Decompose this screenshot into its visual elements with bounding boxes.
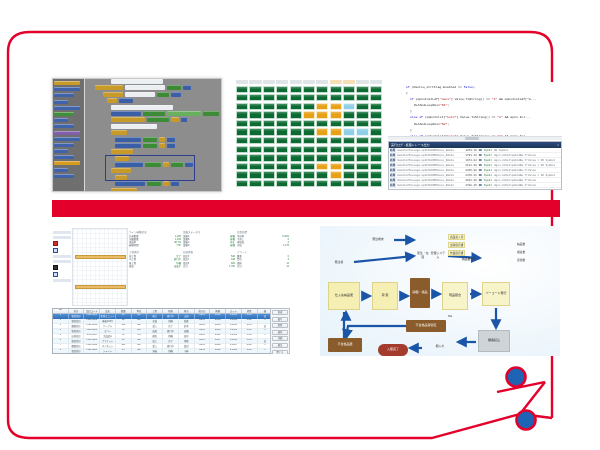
grid-cell-11-0[interactable] — [236, 180, 248, 187]
log-tag: 処理 — [390, 148, 395, 152]
grid-cell-4-4[interactable] — [290, 120, 302, 127]
n-scan[interactable]: 棚番読込 — [478, 330, 510, 352]
schedule-table[interactable]: No区分品目コード品名数量単位工程状態担当指示日納期ロット場所検備考 1製造指示… — [52, 308, 290, 354]
grid-cell-3-0[interactable] — [236, 111, 248, 118]
grid-column-header-8 — [343, 80, 355, 84]
palette-block-3[interactable] — [54, 100, 68, 104]
grid-cell-1-3[interactable] — [276, 94, 288, 101]
palette-block-12[interactable] — [54, 155, 74, 159]
grid-cell-2-1[interactable] — [249, 103, 261, 110]
grid-cell-4-1[interactable] — [249, 120, 261, 127]
grid-cell-7-1[interactable] — [249, 146, 261, 153]
code-text-area[interactable]: if (bGetsu_strtFlag.Enabled == false){if… — [388, 82, 562, 134]
grid-cell-1-2[interactable] — [263, 94, 275, 101]
grid-cell-4-2[interactable] — [263, 120, 275, 127]
grid-cell-5-1[interactable] — [249, 128, 261, 135]
n-office[interactable]: 受注・在庫管理システム — [416, 242, 446, 270]
grid-cell-7-3[interactable] — [276, 146, 288, 153]
grid-cell-0-0[interactable] — [236, 86, 248, 93]
log-tag: 処理 — [390, 173, 395, 177]
log-window-title: 実行ログ ‑ 処理トレース出力 — [391, 143, 430, 147]
block-5-1[interactable] — [143, 111, 165, 116]
block-row-4 — [89, 105, 221, 110]
grid-cell-9-8[interactable] — [343, 163, 355, 170]
block-9-0[interactable] — [115, 137, 141, 142]
block-row-17 — [89, 188, 221, 192]
grid-column-header-4 — [290, 80, 302, 84]
grid-cell-9-9[interactable] — [356, 163, 368, 170]
grid-column-header-2 — [263, 80, 275, 84]
grid-cell-0-6[interactable] — [316, 86, 328, 93]
grid-column-header-1 — [249, 80, 261, 84]
block-1-0[interactable] — [95, 85, 123, 90]
grid-cell-3-4[interactable] — [290, 111, 302, 118]
block-5-3[interactable] — [203, 111, 219, 116]
grid-cell-4-5[interactable] — [303, 120, 315, 127]
scheduler-column-1: ライン稼働状況計画数量1,200実績数量1,184達成率98.7%稼働時間7.5… — [129, 230, 181, 304]
resource-node-1[interactable] — [53, 248, 58, 253]
table-row[interactable]: 8製造指示PRD-0005シャーシ25EA溶接待機小林04/0404/12L-1… — [53, 349, 289, 354]
block-16-3[interactable] — [171, 181, 179, 186]
status-grid-panel[interactable]: 正常警告待機中停止中異常 — [236, 80, 382, 192]
grid-cell-2-9[interactable] — [356, 103, 368, 110]
block-row-1 — [89, 85, 221, 90]
flow-node-label: 棚入れ — [436, 345, 445, 349]
grid-cell-1-4[interactable] — [290, 94, 302, 101]
grid-cell-8-9[interactable] — [356, 154, 368, 161]
grid-cell-8-10[interactable] — [370, 154, 382, 161]
block-9-3[interactable] — [167, 137, 175, 142]
grid-cell-9-3[interactable] — [276, 163, 288, 170]
block-row-2 — [89, 92, 221, 97]
grid-cell-4-8[interactable] — [343, 120, 355, 127]
grid-cell-5-9[interactable] — [356, 128, 368, 135]
n-barcode[interactable]: バーコード発行 — [482, 282, 510, 306]
grid-cell-0-7[interactable] — [330, 86, 342, 93]
grid-cell-7-6[interactable] — [316, 146, 328, 153]
grid-cell-0-10[interactable] — [370, 86, 382, 93]
flow-tag-office-1: 出荷指示書 — [448, 242, 465, 248]
block-11-0[interactable] — [111, 149, 133, 154]
grid-cell-6-5[interactable] — [303, 137, 315, 144]
table-column-header-1: 区分 — [69, 309, 85, 313]
grid-cell-10-5[interactable] — [303, 171, 315, 178]
log-extra: dgsn.CoSetlpmIndRw.TrValue = OK Symbol — [494, 159, 560, 162]
table-action-確定[interactable]: 確定 — [272, 343, 288, 348]
grid-cell-3-7[interactable] — [330, 111, 342, 118]
code-token-p: (bGetsu_strtFlag.Enabled == — [410, 85, 464, 89]
table-action-buttons[interactable]: 新規複写削除検索印刷確定閉じる — [270, 308, 290, 354]
flow-node-label: バーコード発行 — [485, 292, 506, 296]
log-code: OK — [479, 169, 482, 172]
scheduler-column-2: 設備ステータス設備A稼働設備B稼働設備C停止設備D稼働在庫情報部品X540部品Y… — [183, 230, 235, 304]
log-rows[interactable]: 処理HandlerMessage.mpkFOLDPROcess_Rdata125… — [389, 148, 561, 188]
block-row-9 — [89, 137, 221, 142]
grid-cell-11-5[interactable] — [303, 180, 315, 187]
grid-cell-10-1[interactable] — [249, 171, 261, 178]
grid-cell-4-0[interactable] — [236, 120, 248, 127]
grid-cell-7-0[interactable] — [236, 146, 248, 153]
grid-cell-6-6[interactable] — [316, 137, 328, 144]
log-time: 2345.98 — [465, 169, 476, 172]
grid-cell-1-10[interactable] — [370, 94, 382, 101]
grid-cell-11-3[interactable] — [276, 180, 288, 187]
n-terminal[interactable]: 発注端末 — [364, 230, 392, 250]
grid-cell-9-1[interactable] — [249, 163, 261, 170]
grid-cell-5-6[interactable] — [316, 128, 328, 135]
scheduler-metric: 検査未着手 — [129, 265, 181, 268]
table-action-閉じる[interactable]: 閉じる — [272, 350, 288, 354]
block-2-2[interactable] — [157, 92, 169, 97]
grid-cell-5-5[interactable] — [303, 128, 315, 135]
scheduler-group-title: 品質指標 — [237, 230, 289, 234]
blocks-editor-panel[interactable] — [52, 78, 222, 192]
palette-block-5[interactable] — [54, 112, 74, 116]
palette-block-9[interactable] — [54, 137, 80, 141]
grid-column-header-10 — [370, 80, 382, 84]
code-editor-panel[interactable]: if (bGetsu_strtFlag.Enabled == false){if… — [388, 82, 562, 190]
grid-cell-8-4[interactable] — [290, 154, 302, 161]
block-16-0[interactable] — [115, 181, 145, 186]
flow-node-label: 管理システム — [430, 252, 446, 259]
grid-cell-3-9[interactable] — [356, 111, 368, 118]
grid-cell-5-0[interactable] — [236, 128, 248, 135]
palette-block-2[interactable] — [54, 93, 74, 97]
grid-cell-2-5[interactable] — [303, 103, 315, 110]
table-column-header-2: 品目コード — [84, 309, 100, 313]
n-fork[interactable]: 荷 受 — [372, 282, 398, 310]
grid-cell-6-10[interactable] — [370, 137, 382, 144]
grid-cell-7-4[interactable] — [290, 146, 302, 153]
grid-cell-8-3[interactable] — [276, 154, 288, 161]
code-token-p: { — [406, 91, 408, 95]
table-column-header-7: 状態 — [163, 309, 179, 313]
block-5-2[interactable] — [167, 111, 201, 116]
grid-cell-7-9[interactable] — [356, 146, 368, 153]
metric-value: 1,176 — [283, 244, 289, 247]
log-symbol: Symbl — [484, 164, 492, 167]
log-symbol: Symbl — [484, 149, 492, 152]
flow-tag-office-2: 作業指示書 — [448, 250, 465, 256]
grid-cell-4-9[interactable] — [356, 120, 368, 127]
grid-cell-3-6[interactable] — [316, 111, 328, 118]
grid-cell-6-3[interactable] — [276, 137, 288, 144]
table-action-新規[interactable]: 新規 — [272, 310, 288, 315]
table-column-header-4: 数量 — [116, 309, 132, 313]
n-open[interactable]: 開梱・検品 — [410, 278, 430, 308]
grid-cell-11-10[interactable] — [370, 180, 382, 187]
block-9-2[interactable] — [159, 137, 165, 142]
grid-cell-11-4[interactable] — [290, 180, 302, 187]
resource-node-2[interactable] — [53, 272, 58, 277]
block-10-0[interactable] — [115, 143, 141, 148]
grid-cell-9-6[interactable] — [316, 163, 328, 170]
grid-cell-10-6[interactable] — [316, 171, 328, 178]
grid-cell-0-3[interactable] — [276, 86, 288, 93]
grid-cell-11-8[interactable] — [343, 180, 355, 187]
grid-cell-4-7[interactable] — [330, 120, 342, 127]
grid-cell-8-6[interactable] — [316, 154, 328, 161]
grid-cell-2-6[interactable] — [316, 103, 328, 110]
grid-cell-2-10[interactable] — [370, 103, 382, 110]
grid-cell-10-10[interactable] — [370, 171, 382, 178]
log-message: HandlerMessage.mpkFOLDPROcess_Rdata — [397, 184, 463, 187]
table-action-印刷[interactable]: 印刷 — [272, 336, 288, 341]
grid-cell-2-0[interactable] — [236, 103, 248, 110]
n-reject-area[interactable]: 不合格品保管区 — [406, 320, 446, 332]
grid-cell-9-0[interactable] — [236, 163, 248, 170]
grid-cell-10-8[interactable] — [343, 171, 355, 178]
grid-cell-9-4[interactable] — [290, 163, 302, 170]
block-2-1[interactable] — [125, 92, 155, 97]
grid-cell-10-0[interactable] — [236, 171, 248, 178]
grid-cell-6-1[interactable] — [249, 137, 261, 144]
grid-cell-11-6[interactable] — [316, 180, 328, 187]
scheduler-group-title: 工程進捗 — [129, 250, 181, 254]
code-token-p: RetAndLoopPos= — [414, 103, 440, 107]
grid-cell-6-4[interactable] — [290, 137, 302, 144]
block-9-1[interactable] — [143, 137, 157, 142]
table-body[interactable]: 2製造指示PRD-0002基板ASSY80EA実装待機佐藤04/0104/09L… — [53, 319, 289, 354]
gantt-bar-2[interactable] — [75, 285, 126, 289]
log-message: HandlerMessage.mpkFOLDPROcess_Rdata — [397, 154, 463, 157]
grid-cell-10-2[interactable] — [263, 171, 275, 178]
blocks-selection-box — [105, 155, 195, 181]
grid-cell-6-7[interactable] — [330, 137, 342, 144]
log-extra: dgsn.CoSetlpmIndRw.TrValue — [494, 169, 560, 172]
grid-cell-3-10[interactable] — [370, 111, 382, 118]
palette-block-6[interactable] — [54, 118, 68, 122]
horizontal-scrollbar[interactable] — [388, 136, 562, 140]
block-6-0[interactable] — [111, 117, 145, 122]
block-8-0[interactable] — [111, 130, 127, 135]
grid-cell-6-9[interactable] — [356, 137, 368, 144]
log-symbol: Symbl — [484, 154, 492, 157]
scheduler-group-title: 設備ステータス — [183, 230, 235, 234]
grid-cell-8-0[interactable] — [236, 154, 248, 161]
table-action-検索[interactable]: 検索 — [272, 330, 288, 335]
grid-cell-7-5[interactable] — [303, 146, 315, 153]
block-row-10 — [89, 143, 221, 148]
flow-node-label: 荷 受 — [382, 294, 389, 298]
grid-cell-8-7[interactable] — [330, 154, 342, 161]
grid-cell-2-3[interactable] — [276, 103, 288, 110]
grid-cell-9-2[interactable] — [263, 163, 275, 170]
code-token-st: "bnkn" — [445, 115, 456, 119]
grid-cell-8-1[interactable] — [249, 154, 261, 161]
grid-cell-2-7[interactable] — [330, 103, 342, 110]
status-grid-headers — [236, 80, 382, 84]
log-symbol: Symbl — [484, 179, 492, 182]
grid-cell-3-1[interactable] — [249, 111, 261, 118]
block-5-0[interactable] — [111, 111, 141, 116]
grid-cell-10-3[interactable] — [276, 171, 288, 178]
grid-cell-8-2[interactable] — [263, 154, 275, 161]
grid-cell-7-8[interactable] — [343, 146, 355, 153]
block-16-2[interactable] — [163, 181, 169, 186]
block-2-3[interactable] — [171, 92, 181, 97]
block-10-3[interactable] — [167, 143, 175, 148]
grid-cell-0-5[interactable] — [303, 86, 315, 93]
grid-cell-8-5[interactable] — [303, 154, 315, 161]
palette-block-8[interactable] — [54, 131, 80, 135]
block-10-1[interactable] — [143, 143, 157, 148]
block-17-0[interactable] — [111, 188, 137, 192]
block-16-1[interactable] — [147, 181, 161, 186]
grid-cell-11-1[interactable] — [249, 180, 261, 187]
palette-block-1[interactable] — [54, 87, 80, 91]
scheduler-group: 設備ステータス設備A稼働設備B稼働設備C停止設備D稼働 — [183, 230, 235, 247]
table-cell: 待機 — [163, 349, 179, 354]
palette-block-11[interactable] — [54, 149, 68, 153]
grid-column-header-3 — [276, 80, 288, 84]
block-row-16 — [89, 181, 221, 186]
palette-block-10[interactable] — [54, 143, 74, 147]
block-10-2[interactable] — [159, 143, 165, 148]
grid-cell-11-7[interactable] — [330, 180, 342, 187]
log-time: 1253.19 — [465, 149, 476, 152]
log-code: OK — [479, 164, 482, 167]
table-cell: 8 — [53, 349, 69, 354]
block-3-1[interactable] — [119, 98, 133, 103]
scheduler-tree-pane[interactable] — [52, 228, 72, 306]
block-3-0[interactable] — [107, 98, 117, 103]
grid-cell-1-7[interactable] — [330, 94, 342, 101]
scheduler-metric: 設備D稼働 — [183, 244, 235, 247]
grid-cell-3-5[interactable] — [303, 111, 315, 118]
grid-cell-5-2[interactable] — [263, 128, 275, 135]
grid-cell-4-10[interactable] — [370, 120, 382, 127]
block-6-2[interactable] — [171, 117, 179, 122]
grid-cell-2-4[interactable] — [290, 103, 302, 110]
grid-cell-6-0[interactable] — [236, 137, 248, 144]
palette-block-7[interactable] — [54, 124, 74, 128]
grid-cell-8-8[interactable] — [343, 154, 355, 161]
block-5-4[interactable] — [221, 111, 222, 116]
grid-cell-1-5[interactable] — [303, 94, 315, 101]
table-cell: 04/04 — [195, 349, 211, 354]
grid-cell-7-10[interactable] — [370, 146, 382, 153]
grid-cell-1-6[interactable] — [316, 94, 328, 101]
grid-cell-0-8[interactable] — [343, 86, 355, 93]
grid-cell-5-8[interactable] — [343, 128, 355, 135]
grid-cell-5-3[interactable] — [276, 128, 288, 135]
grid-cell-1-0[interactable] — [236, 94, 248, 101]
grid-cell-0-2[interactable] — [263, 86, 275, 93]
grid-cell-0-4[interactable] — [290, 86, 302, 93]
block-4-0[interactable] — [111, 105, 173, 110]
log-message: HandlerMessage.mpkFOLDPROcess_Rdata — [397, 179, 463, 182]
block-row-7 — [89, 124, 221, 129]
palette-block-15[interactable] — [54, 174, 74, 178]
block-7-0[interactable] — [111, 124, 157, 129]
block-row-8 — [89, 130, 221, 135]
grid-cell-1-9[interactable] — [356, 94, 368, 101]
n-reject-store[interactable]: 不合格品庫 — [328, 338, 362, 352]
metric-value: 14 — [286, 265, 289, 268]
grid-cell-9-5[interactable] — [303, 163, 315, 170]
n-customer[interactable]: 発注者 — [326, 250, 352, 276]
log-window[interactable]: 実行ログ ‑ 処理トレース出力 × 処理HandlerMessage.mpkFO… — [388, 141, 562, 190]
palette-block-4[interactable] — [54, 106, 80, 110]
gantt-bar-1[interactable] — [75, 255, 126, 259]
grid-cell-9-10[interactable] — [370, 163, 382, 170]
block-0-0[interactable] — [111, 79, 163, 84]
grid-cell-4-6[interactable] — [316, 120, 328, 127]
table-cell: PRD-0005 — [84, 349, 100, 354]
palette-block-14[interactable] — [54, 168, 68, 172]
grid-cell-2-8[interactable] — [343, 103, 355, 110]
scheduler-metric: 合計1,760 — [183, 265, 235, 268]
scheduler-group-title: アラート — [237, 250, 289, 254]
status-grid-cells[interactable] — [236, 86, 382, 188]
metric-label: 合計 — [237, 265, 242, 268]
grid-cell-10-7[interactable] — [330, 171, 342, 178]
grid-cell-10-9[interactable] — [356, 171, 368, 178]
blocks-palette[interactable] — [53, 79, 85, 191]
grid-cell-3-2[interactable] — [263, 111, 275, 118]
block-1-2[interactable] — [167, 85, 181, 90]
grid-cell-5-10[interactable] — [370, 128, 382, 135]
grid-cell-0-1[interactable] — [249, 86, 261, 93]
grid-cell-11-2[interactable] — [263, 180, 275, 187]
palette-block-13[interactable] — [54, 161, 80, 165]
grid-cell-3-3[interactable] — [276, 111, 288, 118]
gantt-chart[interactable] — [72, 228, 128, 306]
grid-cell-5-4[interactable] — [290, 128, 302, 135]
grid-cell-6-8[interactable] — [343, 137, 355, 144]
table-action-複写[interactable]: 複写 — [272, 317, 288, 322]
log-code: OK — [479, 154, 482, 157]
grid-cell-1-1[interactable] — [249, 94, 261, 101]
log-row: 処理HandlerMessage.mpkFOLDPROcess_Rdata278… — [389, 183, 561, 188]
n-check[interactable]: 現品照合 — [442, 282, 468, 310]
palette-block-0[interactable] — [54, 81, 80, 85]
grid-cell-9-7[interactable] — [330, 163, 342, 170]
grid-cell-11-9[interactable] — [356, 180, 368, 187]
close-icon[interactable]: × — [557, 143, 559, 147]
flow-diagram-panel[interactable]: 発注者発注端末受注・在庫管理システム納品書発行仕入先納品便荷 受開梱・検品現品照… — [320, 226, 560, 356]
block-2-0[interactable] — [103, 92, 123, 97]
code-token-kw: false — [464, 85, 473, 89]
block-6-3[interactable] — [181, 117, 187, 122]
grid-cell-4-3[interactable] — [276, 120, 288, 127]
table-cell: シャーシ — [100, 349, 116, 354]
n-shelf[interactable]: 棚入れ — [424, 338, 456, 356]
scheduler-panel[interactable]: ライン稼働状況計画数量1,200実績数量1,184達成率98.7%稼働時間7.5… — [52, 228, 290, 354]
grid-cell-0-9[interactable] — [356, 86, 368, 93]
grid-cell-3-8[interactable] — [343, 111, 355, 118]
scheduler-info-columns: ライン稼働状況計画数量1,200実績数量1,184達成率98.7%稼働時間7.5… — [128, 228, 290, 306]
n-truck[interactable]: 仕入先納品便 — [328, 282, 360, 310]
accent-dot-lower — [517, 411, 536, 430]
grid-cell-10-4[interactable] — [290, 171, 302, 178]
grid-cell-6-2[interactable] — [263, 137, 275, 144]
scheduler-group-title: ライン稼働状況 — [129, 230, 181, 234]
grid-cell-5-7[interactable] — [330, 128, 342, 135]
grid-cell-2-2[interactable] — [263, 103, 275, 110]
grid-cell-7-7[interactable] — [330, 146, 342, 153]
table-action-削除[interactable]: 削除 — [272, 323, 288, 328]
block-row-6 — [89, 117, 221, 122]
block-1-1[interactable] — [125, 85, 165, 90]
block-row-0 — [89, 79, 221, 84]
block-1-3[interactable] — [183, 85, 191, 90]
grid-cell-7-2[interactable] — [263, 146, 275, 153]
n-complete[interactable]: 入庫完了 — [378, 344, 408, 356]
block-6-1[interactable] — [147, 117, 169, 122]
grid-cell-1-8[interactable] — [343, 94, 355, 101]
